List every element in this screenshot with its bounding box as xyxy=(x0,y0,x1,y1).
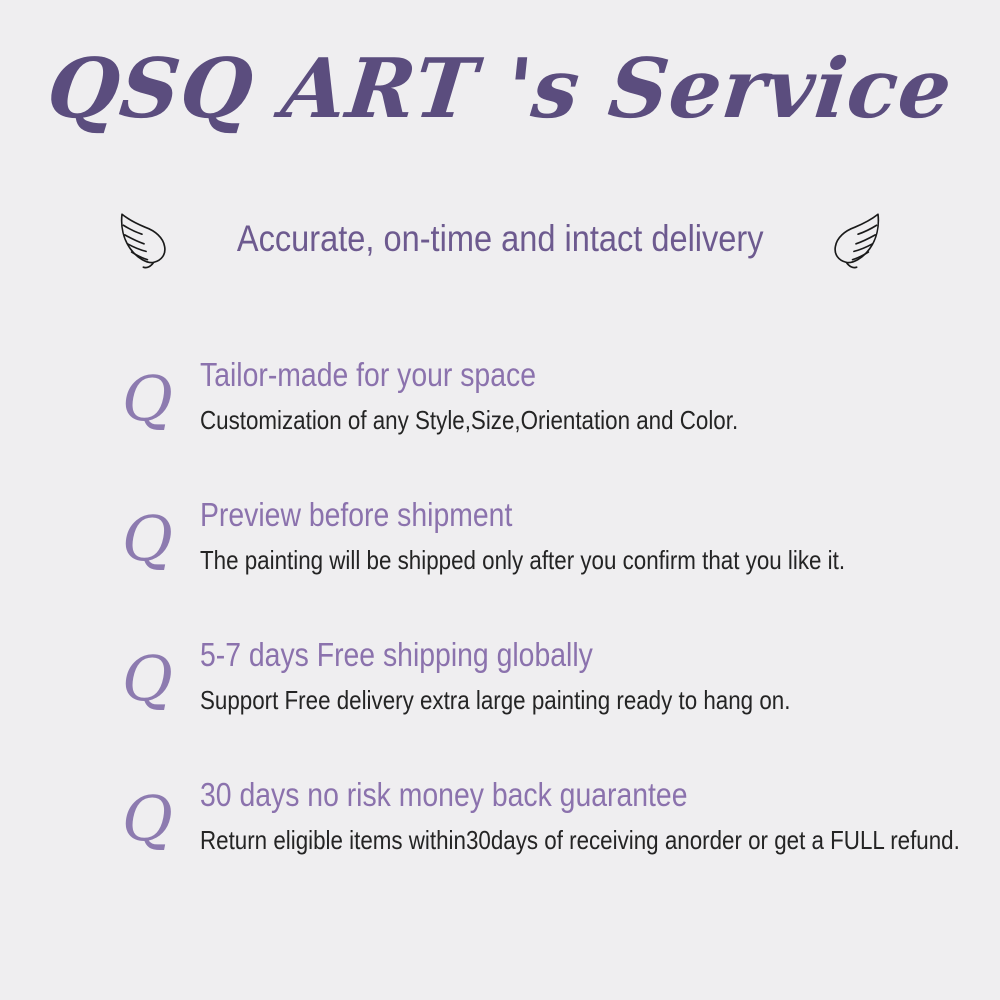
page-title-container: QSQ ART 's Service xyxy=(0,46,1000,132)
list-item: Q Preview before shipment The painting w… xyxy=(0,496,1000,636)
list-item: Q 5-7 days Free shipping globally Suppor… xyxy=(0,636,1000,776)
service-description: The painting will be shipped only after … xyxy=(200,545,888,576)
wing-icon xyxy=(109,206,179,272)
service-heading: 30 days no risk money back guarantee xyxy=(200,776,888,815)
service-banner: QSQ ART 's Service Accurate, on-time and… xyxy=(0,0,1000,1000)
subtitle-row: Accurate, on-time and intact delivery xyxy=(0,206,1000,272)
service-description: Customization of any Style,Size,Orientat… xyxy=(200,405,888,436)
list-item: Q Tailor-made for your space Customizati… xyxy=(0,356,1000,496)
service-description: Support Free delivery extra large painti… xyxy=(200,685,888,716)
service-list: Q Tailor-made for your space Customizati… xyxy=(0,356,1000,916)
q-marker-icon: Q xyxy=(122,368,184,430)
q-marker-icon: Q xyxy=(122,508,184,570)
service-description: Return eligible items within30days of re… xyxy=(200,825,888,856)
list-item: Q 30 days no risk money back guarantee R… xyxy=(0,776,1000,916)
subtitle-text: Accurate, on-time and intact delivery xyxy=(237,218,764,261)
page-title: QSQ ART 's Service xyxy=(44,46,957,132)
service-heading: Preview before shipment xyxy=(200,496,888,535)
service-heading: 5-7 days Free shipping globally xyxy=(200,636,888,675)
wing-icon xyxy=(821,206,891,272)
q-marker-icon: Q xyxy=(122,648,184,710)
q-marker-icon: Q xyxy=(122,788,184,850)
service-heading: Tailor-made for your space xyxy=(200,356,888,395)
